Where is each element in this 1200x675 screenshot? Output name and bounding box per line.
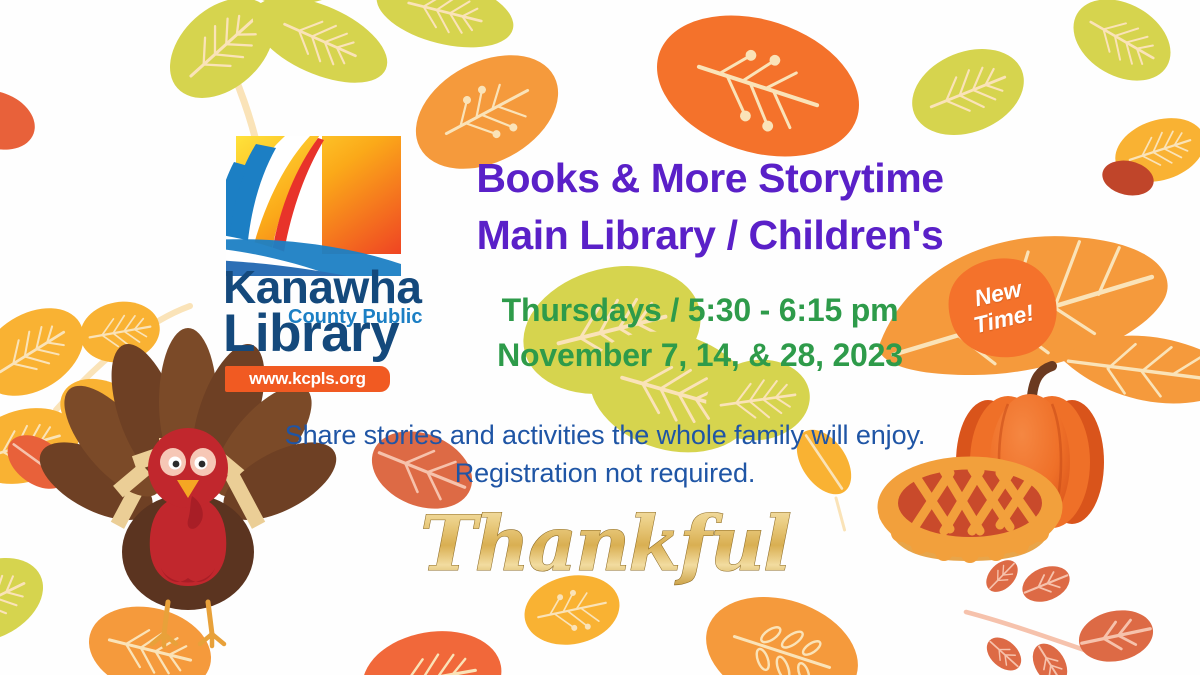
thankful-text: Thankful xyxy=(420,499,790,588)
badge-line-1: New xyxy=(972,277,1024,313)
logo-name-kanawha: Kanawha xyxy=(223,266,409,309)
description-line-1: Share stories and activities the whole f… xyxy=(200,416,1010,454)
title-line-1: Books & More Storytime xyxy=(430,150,990,207)
schedule-time: Thursdays / 5:30 - 6:15 pm xyxy=(420,288,980,333)
poster-canvas: Kanawha Library County Public www.kcpls.… xyxy=(0,0,1200,675)
title-line-2: Main Library / Children's xyxy=(430,207,990,264)
thankful-script-word: Thankful xyxy=(398,492,812,600)
new-time-badge: New Time! xyxy=(948,258,1054,356)
logo-url-text: www.kcpls.org xyxy=(249,369,366,389)
logo-wordmark: Kanawha Library County Public www.kcpls.… xyxy=(221,266,409,391)
schedule-dates: November 7, 14, & 28, 2023 xyxy=(420,333,980,378)
logo-tagline: County Public xyxy=(288,306,422,329)
page-title: Books & More Storytime Main Library / Ch… xyxy=(430,150,990,263)
badge-line-2: Time! xyxy=(971,300,1036,339)
description-block: Share stories and activities the whole f… xyxy=(200,416,1010,493)
open-book-logo-icon xyxy=(226,136,401,276)
description-line-2: Registration not required. xyxy=(200,454,1010,492)
logo-url-bar[interactable]: www.kcpls.org xyxy=(225,366,390,392)
library-logo: Kanawha Library County Public www.kcpls.… xyxy=(221,136,409,389)
schedule-block: Thursdays / 5:30 - 6:15 pm November 7, 1… xyxy=(420,288,980,379)
